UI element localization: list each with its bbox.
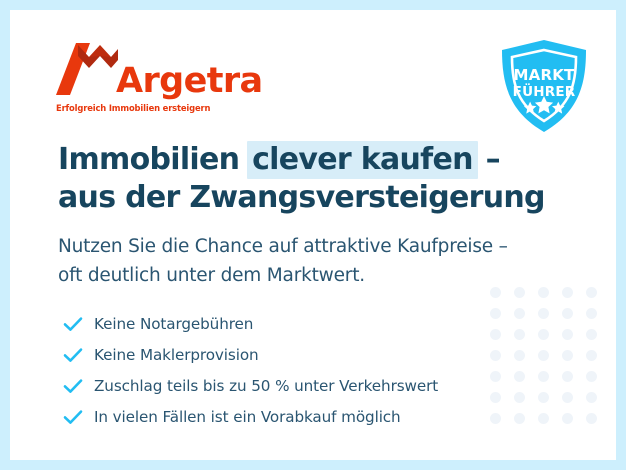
headline-text-after: – bbox=[476, 142, 500, 177]
decorative-dot bbox=[538, 371, 549, 382]
argetra-roof-a-icon bbox=[56, 43, 118, 100]
benefit-label: In vielen Fällen ist ein Vorabkauf mögli… bbox=[94, 408, 401, 426]
decorative-dot bbox=[586, 371, 597, 382]
headline-text-before: Immobilien bbox=[58, 142, 249, 177]
benefit-label: Keine Notargebühren bbox=[94, 315, 253, 333]
decorative-dot bbox=[514, 287, 525, 298]
decorative-dot bbox=[514, 371, 525, 382]
markt-fuehrer-badge: MARKT FÜHRER bbox=[498, 38, 590, 134]
decorative-dot bbox=[562, 329, 573, 340]
decorative-dot bbox=[586, 413, 597, 424]
benefit-item: Zuschlag teils bis zu 50 % unter Verkehr… bbox=[62, 370, 438, 401]
decorative-dot bbox=[586, 392, 597, 403]
badge-line1: MARKT bbox=[514, 66, 576, 84]
headline-line2: aus der Zwangsversteigerung bbox=[58, 180, 545, 215]
decorative-dot bbox=[514, 392, 525, 403]
headline-highlight: clever kaufen bbox=[247, 141, 478, 179]
check-icon bbox=[62, 313, 84, 335]
decorative-dot bbox=[490, 392, 501, 403]
decorative-dot bbox=[586, 329, 597, 340]
subheading-line1: Nutzen Sie die Chance auf attraktive Kau… bbox=[58, 236, 508, 257]
benefit-label: Keine Maklerprovision bbox=[94, 346, 259, 364]
decorative-dot bbox=[514, 308, 525, 319]
subheading: Nutzen Sie die Chance auf attraktive Kau… bbox=[58, 232, 508, 290]
decorative-dot bbox=[490, 371, 501, 382]
benefit-label: Zuschlag teils bis zu 50 % unter Verkehr… bbox=[94, 377, 438, 395]
decorative-dot bbox=[490, 329, 501, 340]
decorative-dot bbox=[514, 413, 525, 424]
decorative-dot bbox=[538, 308, 549, 319]
benefit-item: Keine Notargebühren bbox=[62, 308, 438, 339]
decorative-dot bbox=[538, 329, 549, 340]
decorative-dot bbox=[538, 350, 549, 361]
decorative-dot bbox=[538, 413, 549, 424]
check-icon bbox=[62, 344, 84, 366]
promo-banner: Argetra Erfolgreich Immobilien ersteiger… bbox=[0, 0, 626, 470]
argetra-logo[interactable]: Argetra Erfolgreich Immobilien ersteiger… bbox=[56, 48, 263, 113]
decorative-dot bbox=[514, 329, 525, 340]
benefit-item: In vielen Fällen ist ein Vorabkauf mögli… bbox=[62, 401, 438, 432]
decorative-dot bbox=[586, 308, 597, 319]
decorative-dot bbox=[538, 287, 549, 298]
subheading-line2: oft deutlich unter dem Marktwert. bbox=[58, 265, 365, 286]
decorative-dot bbox=[586, 287, 597, 298]
argetra-tagline: Erfolgreich Immobilien ersteigern bbox=[56, 103, 263, 113]
decorative-dot bbox=[562, 392, 573, 403]
decorative-dot bbox=[586, 350, 597, 361]
decorative-dot bbox=[514, 350, 525, 361]
decorative-dot bbox=[562, 413, 573, 424]
decorative-dot bbox=[562, 308, 573, 319]
decorative-dot bbox=[490, 308, 501, 319]
check-icon bbox=[62, 406, 84, 428]
dot-grid-decoration bbox=[490, 287, 610, 434]
decorative-dot bbox=[490, 350, 501, 361]
headline-line1: Immobilien clever kaufen – bbox=[58, 142, 500, 177]
decorative-dot bbox=[490, 413, 501, 424]
logo-row: Argetra bbox=[56, 48, 263, 100]
headline: Immobilien clever kaufen – aus der Zwang… bbox=[58, 141, 545, 217]
benefit-item: Keine Maklerprovision bbox=[62, 339, 438, 370]
banner-card: Argetra Erfolgreich Immobilien ersteiger… bbox=[10, 10, 616, 460]
decorative-dot bbox=[562, 287, 573, 298]
check-icon bbox=[62, 375, 84, 397]
decorative-dot bbox=[562, 350, 573, 361]
decorative-dot bbox=[562, 371, 573, 382]
benefits-list: Keine NotargebührenKeine Maklerprovision… bbox=[62, 308, 438, 432]
decorative-dot bbox=[538, 392, 549, 403]
argetra-wordmark: Argetra bbox=[116, 64, 263, 99]
